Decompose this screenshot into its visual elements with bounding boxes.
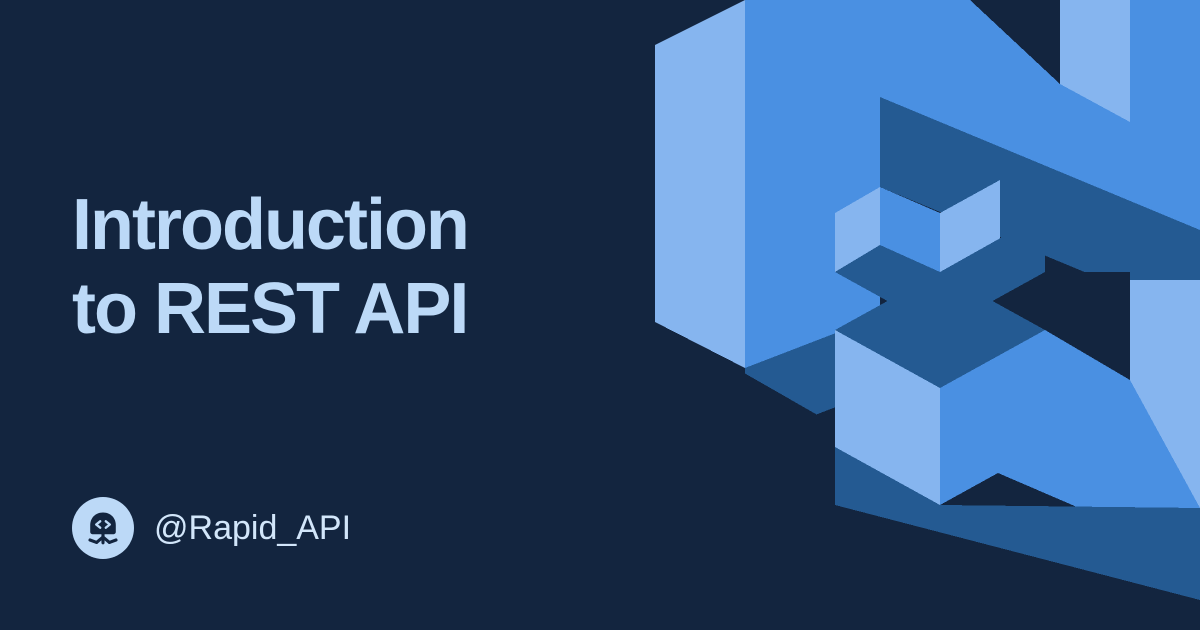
og-card: Introduction to REST API: [0, 0, 1200, 630]
page-title-line-2: to REST API: [72, 267, 632, 351]
author-byline[interactable]: @Rapid_API: [72, 497, 351, 559]
isometric-artwork: [640, 0, 1200, 630]
avatar[interactable]: [72, 497, 134, 559]
shape-left-pillar-right-face: [745, 0, 880, 368]
shape-left-pillar-left-face: [655, 0, 745, 368]
shape-upper-right-mid-panel: [1130, 0, 1200, 133]
octopus-mascot-icon: [83, 508, 123, 548]
page-title: Introduction to REST API: [72, 183, 632, 351]
author-handle: @Rapid_API: [154, 509, 351, 548]
page-title-line-1: Introduction: [72, 183, 632, 267]
